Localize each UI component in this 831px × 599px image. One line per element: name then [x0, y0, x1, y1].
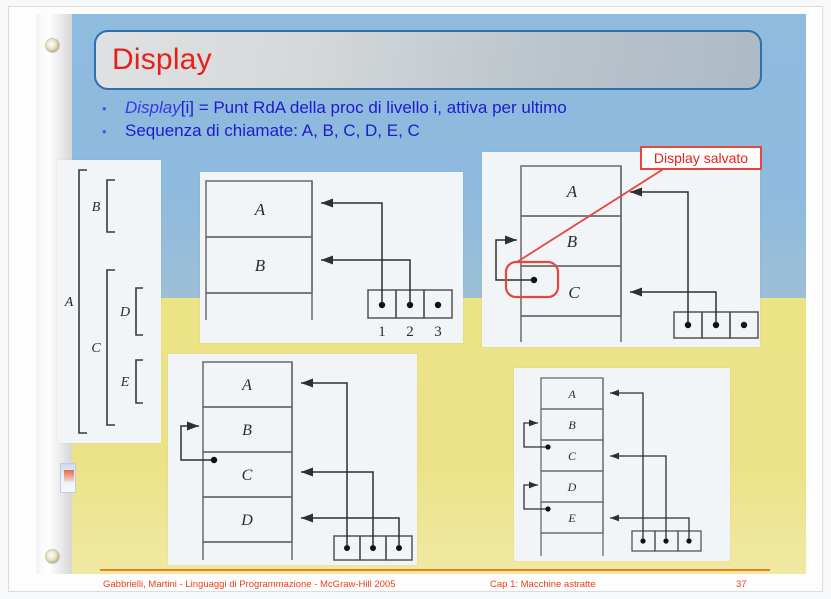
frame-label-b: B	[242, 422, 252, 439]
static-link-dot	[545, 444, 550, 449]
diagram-4-svg: A B C D E	[514, 368, 730, 561]
diagram-1-panel: A B 1 2 3	[200, 172, 463, 343]
frame-label-c: C	[568, 283, 580, 302]
frame-label-d: D	[240, 512, 253, 529]
static-link-arrow-b	[524, 423, 548, 447]
diagram-1-svg: A B 1 2 3	[200, 172, 463, 343]
nesting-tree-panel: A B C D E	[57, 160, 161, 443]
pointer-1-to-a	[321, 203, 382, 303]
cell-dot	[435, 302, 441, 308]
footer-page-number: 37	[736, 579, 747, 590]
binder-ring-icon	[45, 38, 60, 53]
frame-label-a: A	[254, 200, 266, 219]
nesting-tree-svg: A B C D E	[57, 160, 161, 443]
pointer-1-to-a	[301, 383, 347, 546]
cell-dot	[663, 538, 668, 543]
cell-index-2: 2	[406, 324, 414, 340]
page-title: Display	[96, 43, 212, 77]
display-salvato-callout: Display salvato	[640, 146, 762, 170]
frame-label-c: C	[242, 467, 253, 484]
cell-index-1: 1	[378, 324, 386, 340]
saved-display-dot	[531, 277, 537, 283]
slide-title-box: Display	[94, 30, 762, 90]
bullet-marker-icon: •	[99, 124, 125, 139]
diagram-4-panel: A B C D E	[514, 368, 730, 561]
diagram-3-svg: A B C D	[168, 354, 417, 565]
footer-chapter: Cap 1: Macchine astratte	[490, 579, 596, 590]
list-item: • Sequenza di chiamate: A, B, C, D, E, C	[99, 121, 779, 141]
pointer-3-to-d	[301, 518, 399, 546]
frame-label-b: B	[567, 232, 578, 251]
frame-label-b: B	[568, 418, 576, 432]
bracket-e	[136, 360, 143, 403]
static-link-dot	[545, 506, 550, 511]
list-item: • Display [i] = Punt RdA della proc di l…	[99, 98, 779, 118]
cell-dot	[686, 538, 691, 543]
diagram-2-svg: A B C	[482, 152, 760, 347]
frame-label-a: A	[567, 387, 576, 401]
cell-dot	[741, 322, 747, 328]
tree-label-c: C	[91, 341, 101, 356]
static-link-arrow-d	[524, 485, 548, 509]
bullet-marker-icon: •	[99, 101, 125, 116]
bracket-c	[107, 270, 115, 425]
footer: Gabbrielli, Martini - Linguaggi di Progr…	[70, 575, 806, 595]
footer-divider	[100, 569, 770, 571]
diagram-3-panel: A B C D	[168, 354, 417, 565]
callout-leader-line	[517, 154, 687, 262]
cell-dot	[640, 538, 645, 543]
cell-index-3: 3	[434, 324, 442, 340]
pointer-3-to-e	[610, 518, 689, 539]
tree-label-e: E	[120, 375, 130, 390]
static-link-arrow	[496, 240, 534, 280]
diagram-2-panel: A B C	[482, 152, 760, 347]
pointer-2-to-c	[301, 472, 373, 546]
bullet-text: Sequenza di chiamate: A, B, C, D, E, C	[125, 121, 420, 141]
bullet-text: [i] = Punt RdA della proc di livello i, …	[181, 98, 567, 118]
bracket-a	[79, 170, 87, 433]
tree-label-d: D	[119, 305, 130, 320]
static-link-dot	[211, 457, 217, 463]
bracket-b	[107, 180, 115, 232]
pointer-1-to-a	[610, 393, 643, 539]
frame-label-a: A	[566, 182, 578, 201]
tree-label-b: B	[92, 200, 101, 215]
footer-citation: Gabbrielli, Martini - Linguaggi di Progr…	[103, 579, 396, 590]
static-link-arrow	[181, 426, 214, 460]
binder-ring-icon	[45, 549, 60, 564]
frame-label-c: C	[568, 449, 577, 463]
pointer-2-to-c	[630, 292, 716, 323]
pointer-1-to-a	[630, 192, 688, 323]
frame-label-a: A	[241, 377, 252, 394]
bracket-d	[136, 288, 143, 335]
frame-label-b: B	[255, 256, 266, 275]
frame-label-d: D	[567, 480, 577, 494]
decorative-sticker-icon	[60, 463, 76, 493]
tree-label-a: A	[64, 295, 74, 310]
slide-root: Display • Display [i] = Punt RdA della p…	[0, 0, 831, 599]
bullet-list: • Display [i] = Punt RdA della proc di l…	[99, 98, 779, 144]
bullet-emphasis: Display	[125, 98, 181, 118]
frame-label-e: E	[567, 511, 576, 525]
pointer-2-to-c	[610, 456, 666, 539]
